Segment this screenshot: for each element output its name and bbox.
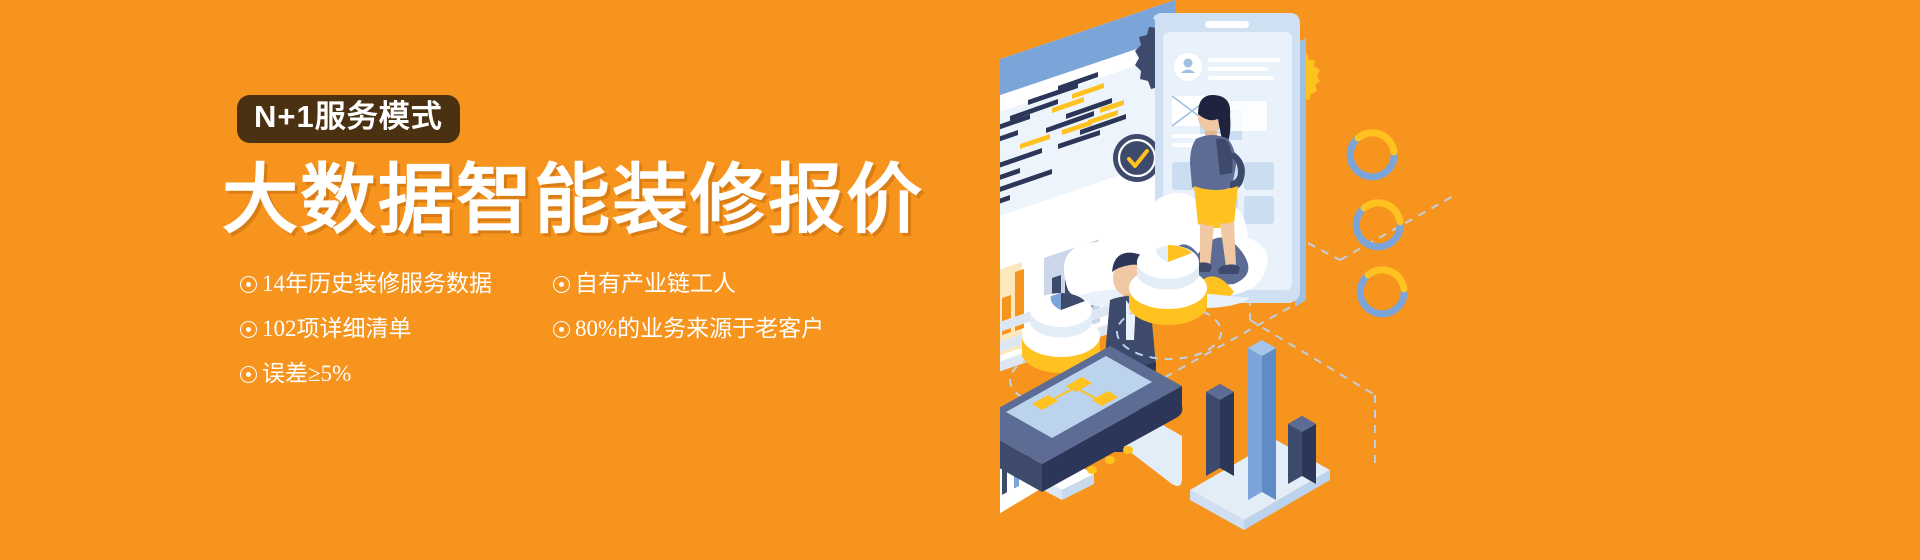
hero-illustration [1000, 0, 1920, 560]
page-title: 大数据智能装修报价 [222, 163, 924, 239]
feature-column-left: 14年历史装修服务数据 102项详细清单 误差≥5% [240, 272, 492, 407]
target-dot-icon [553, 276, 570, 293]
list-item-label: 102项详细清单 [262, 317, 412, 340]
list-item: 14年历史装修服务数据 [240, 272, 492, 295]
target-dot-icon [240, 276, 257, 293]
feature-column-right: 自有产业链工人 80%的业务来源于老客户 [553, 272, 824, 362]
ring-loader-icon [1350, 133, 1404, 314]
list-item: 自有产业链工人 [553, 272, 824, 295]
target-dot-icon [240, 321, 257, 338]
checkmark-badge-icon [1113, 134, 1161, 182]
server-box-icon [1000, 346, 1182, 525]
list-item-label: 自有产业链工人 [575, 272, 736, 295]
list-item-label: 80%的业务来源于老客户 [575, 317, 824, 340]
list-item-label: 14年历史装修服务数据 [262, 272, 492, 295]
service-model-badge: N+1服务模式 [237, 95, 460, 143]
list-item-label: 误差≥5% [262, 362, 351, 385]
target-dot-icon [240, 366, 257, 383]
list-item: 80%的业务来源于老客户 [553, 317, 824, 340]
bar-column-group [1190, 340, 1330, 530]
promo-banner: N+1服务模式 大数据智能装修报价 14年历史装修服务数据 102项详细清单 误… [0, 0, 1920, 560]
target-dot-icon [553, 321, 570, 338]
list-item: 102项详细清单 [240, 317, 492, 340]
list-item: 误差≥5% [240, 362, 492, 385]
banner-text-block: N+1服务模式 大数据智能装修报价 14年历史装修服务数据 102项详细清单 误… [0, 0, 1000, 560]
